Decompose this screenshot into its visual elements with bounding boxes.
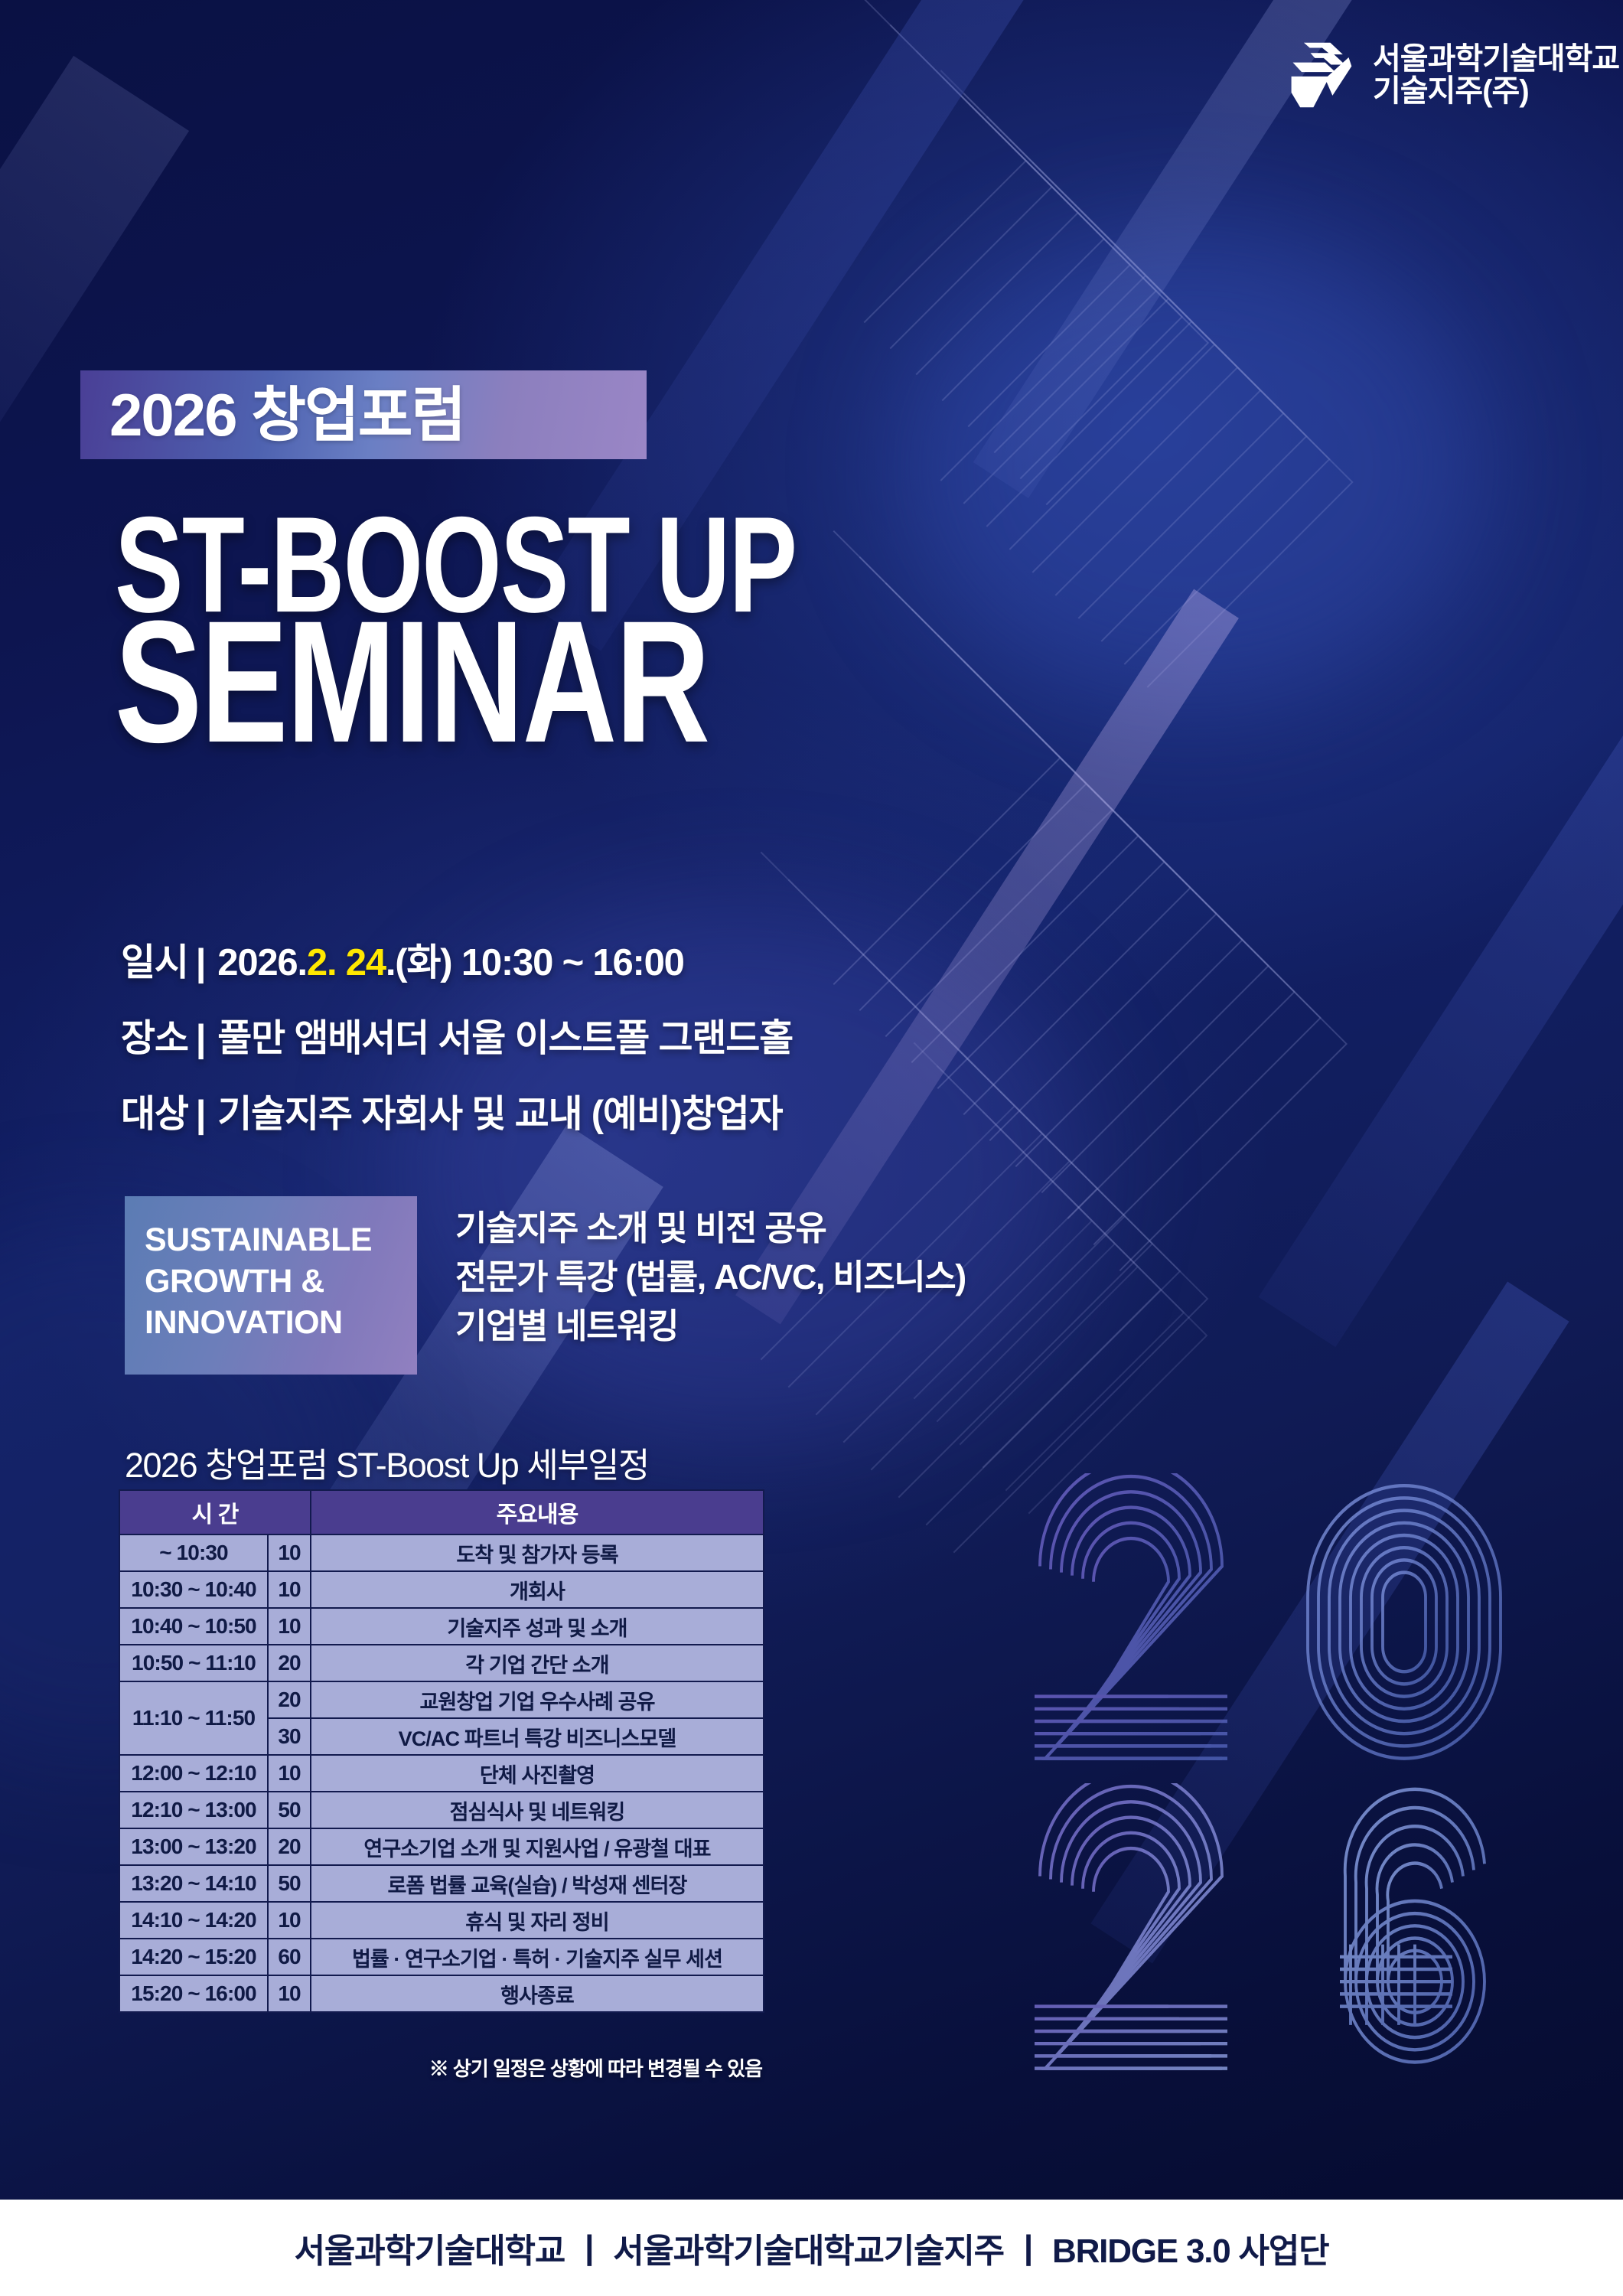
footer-organizations: 서울과학기술대학교 | 서울과학기술대학교기술지주 | BRIDGE 3.0 사… (295, 2223, 1329, 2272)
info-bar-audience: | (196, 1093, 206, 1136)
event-info-block: 일시 | 2026. 2. 24 .(화) 10:30 ~ 16:00 장소 |… (121, 932, 793, 1159)
cell-duration: 20 (268, 1645, 311, 1681)
logo-ko-line1: 서울과학기술대학교 (1373, 43, 1619, 75)
cell-time: 10:40 ~ 10:50 (119, 1608, 268, 1645)
logo-ko-line2: 기술지주(주) (1373, 75, 1619, 107)
cell-duration: 10 (268, 1534, 311, 1571)
forum-badge: 2026 창업포럼 (80, 370, 647, 459)
schedule-title: 2026 창업포럼 ST-Boost Up 세부일정 (125, 1437, 649, 1487)
info-bar-venue: | (196, 1017, 206, 1060)
cell-duration: 10 (268, 1755, 311, 1792)
info-row-audience: 대상 | 기술지주 자회사 및 교내 (예비)창업자 (121, 1084, 793, 1138)
theme-box: SUSTAINABLE GROWTH & INNOVATION (125, 1196, 417, 1375)
logo-korean-text: 서울과학기술대학교 기술지주(주) (1373, 43, 1619, 108)
cell-time: 10:30 ~ 10:40 (119, 1571, 268, 1608)
info-row-date: 일시 | 2026. 2. 24 .(화) 10:30 ~ 16:00 (121, 932, 793, 987)
footer-separator-1: | (585, 2229, 593, 2267)
theme-section: SUSTAINABLE GROWTH & INNOVATION 기술지주 소개 … (125, 1196, 966, 1375)
theme-line-2: GROWTH & (145, 1261, 400, 1302)
info-label-venue: 장소 (121, 1008, 188, 1062)
table-row: 12:00 ~ 12:1010단체 사진촬영 (119, 1755, 764, 1792)
table-row: 15:20 ~ 16:0010행사종료 (119, 1975, 764, 2012)
schedule-note: ※ 상기 일정은 상황에 따라 변경될 수 있음 (429, 2053, 762, 2082)
table-row: 12:10 ~ 13:0050점심식사 및 네트워킹 (119, 1792, 764, 1828)
cell-content: 교원창업 기업 우수사례 공유 (311, 1681, 764, 1718)
cell-content: 법률 · 연구소기업 · 특허 · 기술지주 실무 세션 (311, 1939, 764, 1975)
column-header-time: 시 간 (119, 1490, 311, 1534)
info-row-venue: 장소 | 풀만 앰배서더 서울 이스트폴 그랜드홀 (121, 1008, 793, 1062)
schedule-table: 시 간 주요내용 ~ 10:3010도착 및 참가자 등록10:30 ~ 10:… (119, 1489, 764, 2013)
table-row: 10:50 ~ 11:1020각 기업 간단 소개 (119, 1645, 764, 1681)
cell-duration: 50 (268, 1792, 311, 1828)
cell-time: 14:20 ~ 15:20 (119, 1939, 268, 1975)
page-title: ST-BOOST UP SEMINAR (115, 505, 855, 732)
cell-content: 기술지주 성과 및 소개 (311, 1608, 764, 1645)
table-row: 14:10 ~ 14:2010휴식 및 자리 정비 (119, 1902, 764, 1939)
footer-org-2: 서울과학기술대학교기술지주 (613, 2223, 1004, 2272)
footer-org-1: 서울과학기술대학교 (295, 2223, 565, 2272)
brand-logo: 서울과학기술대학교 기술지주(주) SEOULTECH HOLDINGS (1284, 38, 1623, 112)
cell-duration: 20 (268, 1828, 311, 1865)
table-row: 10:30 ~ 10:4010개회사 (119, 1571, 764, 1608)
forum-badge-label: 2026 창업포럼 (109, 385, 464, 445)
table-header-row: 시 간 주요내용 (119, 1490, 764, 1534)
cell-duration: 10 (268, 1902, 311, 1939)
title-line-2: SEMINAR (115, 606, 796, 759)
table-row: ~ 10:3010도착 및 참가자 등록 (119, 1534, 764, 1571)
cell-content: 점심식사 및 네트워킹 (311, 1792, 764, 1828)
cell-duration: 10 (268, 1975, 311, 2012)
chevron-cluster-upper-left (796, 130, 1484, 819)
decorative-year-2026 (1029, 1473, 1565, 2093)
theme-line-1: SUSTAINABLE (145, 1219, 400, 1261)
program-point: 기술지주 소개 및 비전 공유 (455, 1204, 966, 1253)
info-date-highlight: 2. 24 (307, 941, 386, 984)
info-date-post: .(화) 10:30 ~ 16:00 (386, 932, 684, 987)
info-date-pre: 2026. (217, 941, 307, 984)
cell-content: 개회사 (311, 1571, 764, 1608)
info-value-audience: 기술지주 자회사 및 교내 (예비)창업자 (217, 1084, 782, 1138)
cell-time: 10:50 ~ 11:10 (119, 1645, 268, 1681)
info-label-audience: 대상 (121, 1084, 188, 1138)
cell-duration: 10 (268, 1571, 311, 1608)
decor-digit-2 (1029, 1783, 1297, 2093)
cell-time: 15:20 ~ 16:00 (119, 1975, 268, 2012)
cell-content: 행사종료 (311, 1975, 764, 2012)
cell-duration: 30 (268, 1718, 311, 1755)
cell-time: 13:00 ~ 13:20 (119, 1828, 268, 1865)
table-row: 14:20 ~ 15:2060법률 · 연구소기업 · 특허 · 기술지주 실무… (119, 1939, 764, 1975)
table-row: 13:20 ~ 14:1050로폼 법률 교육(실습) / 박성재 센터장 (119, 1865, 764, 1902)
column-header-content: 주요내용 (311, 1490, 764, 1534)
ribbon-6 (1090, 1282, 1569, 1964)
table-row: 10:40 ~ 10:5010기술지주 성과 및 소개 (119, 1608, 764, 1645)
cell-content: 도착 및 참가자 등록 (311, 1534, 764, 1571)
decor-digit-1 (1297, 1473, 1565, 1783)
program-points-list: 기술지주 소개 및 비전 공유 전문가 특강 (법률, AC/VC, 비즈니스)… (455, 1196, 966, 1351)
footer-separator-2: | (1024, 2229, 1032, 2267)
cell-content: 연구소기업 소개 및 지원사업 / 유광철 대표 (311, 1828, 764, 1865)
table-row: 11:10 ~ 11:5020교원창업 기업 우수사례 공유 (119, 1681, 764, 1718)
ribbon-3 (1259, 719, 1623, 1347)
cell-time: 11:10 ~ 11:50 (119, 1681, 268, 1755)
cell-time: 12:10 ~ 13:00 (119, 1792, 268, 1828)
cell-duration: 20 (268, 1681, 311, 1718)
table-row: 13:00 ~ 13:2020연구소기업 소개 및 지원사업 / 유광철 대표 (119, 1828, 764, 1865)
cell-time: 14:10 ~ 14:20 (119, 1902, 268, 1939)
info-label-date: 일시 (121, 932, 188, 987)
schedule-table-body: ~ 10:3010도착 및 참가자 등록10:30 ~ 10:4010개회사10… (119, 1534, 764, 2012)
cell-content: 단체 사진촬영 (311, 1755, 764, 1792)
info-value-venue: 풀만 앰배서더 서울 이스트폴 그랜드홀 (217, 1008, 793, 1062)
glow-blob-1 (903, 230, 1484, 704)
decor-digit-3 (1297, 1783, 1565, 2093)
cell-content: 각 기업 간단 소개 (311, 1645, 764, 1681)
cell-time: 13:20 ~ 14:10 (119, 1865, 268, 1902)
decor-digit-0 (1029, 1473, 1297, 1783)
cell-content: 휴식 및 자리 정비 (311, 1902, 764, 1939)
cell-time: 12:00 ~ 12:10 (119, 1755, 268, 1792)
cell-content: 로폼 법률 교육(실습) / 박성재 센터장 (311, 1865, 764, 1902)
cell-duration: 50 (268, 1865, 311, 1902)
seoultech-holdings-mark-icon (1284, 38, 1357, 112)
footer-bar: 서울과학기술대학교 | 서울과학기술대학교기술지주 | BRIDGE 3.0 사… (0, 2200, 1623, 2296)
info-bar-date: | (196, 941, 206, 984)
program-point: 기업별 네트워킹 (455, 1302, 966, 1351)
cell-duration: 10 (268, 1608, 311, 1645)
cell-time: ~ 10:30 (119, 1534, 268, 1571)
program-point: 전문가 특강 (법률, AC/VC, 비즈니스) (455, 1253, 966, 1302)
poster-canvas: 서울과학기술대학교 기술지주(주) SEOULTECH HOLDINGS 202… (0, 0, 1623, 2296)
cell-duration: 60 (268, 1939, 311, 1975)
cell-content: VC/AC 파트너 특강 비즈니스모델 (311, 1718, 764, 1755)
theme-line-3: INNOVATION (145, 1302, 400, 1343)
footer-org-3: BRIDGE 3.0 사업단 (1052, 2223, 1328, 2272)
